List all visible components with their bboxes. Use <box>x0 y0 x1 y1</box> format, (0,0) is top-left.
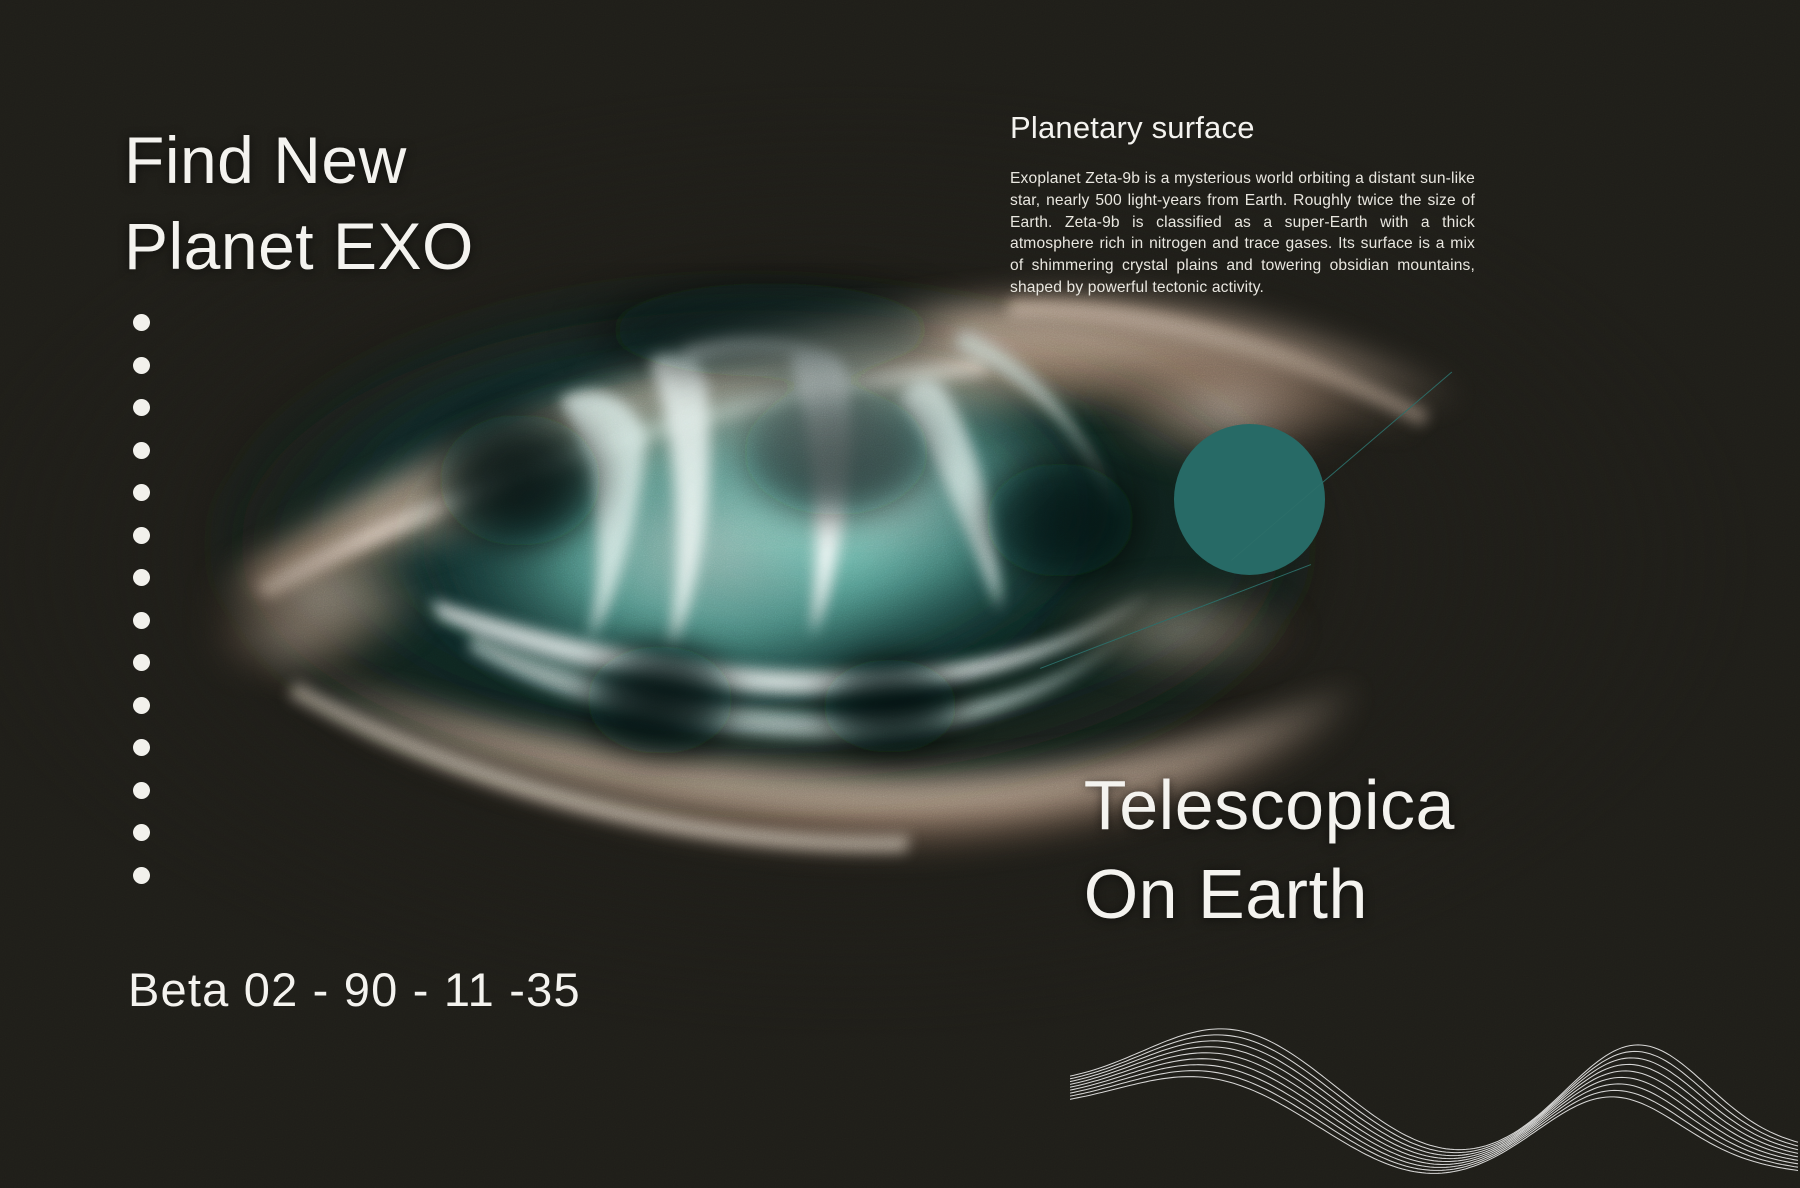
wave-line <box>1070 1065 1798 1168</box>
dot-marker <box>133 314 150 331</box>
section-heading: Planetary surface <box>1010 110 1475 146</box>
wave-line <box>1070 1029 1798 1150</box>
dot-marker <box>133 357 150 374</box>
dot-divider <box>133 314 150 884</box>
dot-marker <box>133 399 150 416</box>
dot-marker <box>133 527 150 544</box>
section-body-text: Exoplanet Zeta-9b is a mysterious world … <box>1010 168 1475 299</box>
page-title: Find New Planet EXO <box>124 118 474 290</box>
wave-line <box>1070 1047 1798 1159</box>
dot-marker <box>133 484 150 501</box>
planetary-surface-block: Planetary surface Exoplanet Zeta-9b is a… <box>1010 110 1475 299</box>
dot-marker <box>133 612 150 629</box>
wave-lines <box>1070 858 1800 1188</box>
dot-marker <box>133 867 150 884</box>
dot-marker <box>133 569 150 586</box>
beta-code-label: Beta 02 - 90 - 11 -35 <box>128 962 581 1017</box>
wave-line <box>1070 1077 1798 1174</box>
dot-marker <box>133 442 150 459</box>
dot-marker <box>133 697 150 714</box>
dot-marker <box>133 824 150 841</box>
wave-line <box>1070 1059 1798 1165</box>
dot-marker <box>133 739 150 756</box>
wave-line <box>1070 1041 1798 1156</box>
dot-marker <box>133 782 150 799</box>
dot-marker <box>133 654 150 671</box>
poster-canvas: Find New Planet EXO Beta 02 - 90 - 11 -3… <box>0 0 1800 1188</box>
